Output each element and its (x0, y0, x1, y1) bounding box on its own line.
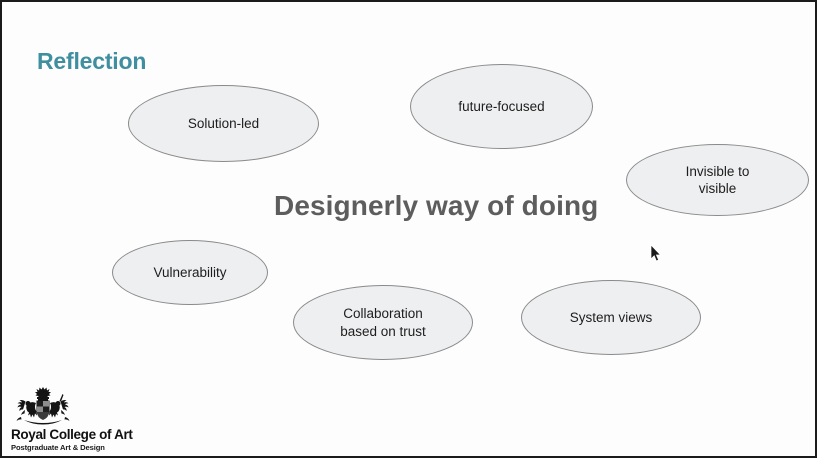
concept-ellipse-label: Solution-led (174, 115, 273, 132)
concept-ellipse-label: Invisible to visible (672, 163, 764, 198)
concept-ellipse-system-views: System views (521, 280, 701, 355)
rca-logo-tagline: Postgraduate Art & Design (11, 443, 171, 452)
page-title: Reflection (37, 48, 146, 75)
concept-ellipse-solution-led: Solution-led (128, 85, 319, 162)
concept-ellipse-label: Vulnerability (139, 264, 240, 281)
concept-ellipse-invisible-to-visible: Invisible to visible (626, 144, 809, 216)
concept-ellipse-future-focused: future-focused (410, 64, 593, 149)
concept-ellipse-label: System views (556, 309, 667, 326)
concept-ellipse-collaboration-based-on-trust: Collaboration based on trust (293, 285, 473, 360)
concept-ellipse-label: Collaboration based on trust (326, 305, 440, 340)
royal-coat-of-arms-icon (12, 386, 74, 426)
mouse-pointer-icon (650, 245, 662, 262)
concept-ellipse-vulnerability: Vulnerability (112, 240, 268, 305)
rca-logo: Royal College of Art Postgraduate Art & … (11, 386, 171, 452)
concept-ellipse-label: future-focused (444, 98, 558, 115)
rca-logo-name: Royal College of Art (11, 427, 171, 442)
slide-headline: Designerly way of doing (274, 190, 598, 222)
presentation-slide: Reflection Solution-led future-focused I… (0, 0, 817, 458)
